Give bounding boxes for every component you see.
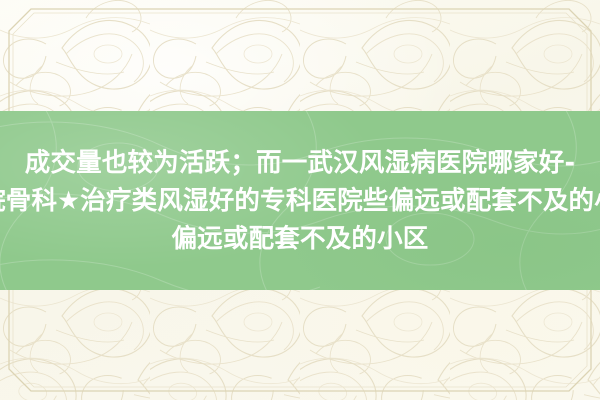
headline-line-3: 偏远或配套不及的小区 <box>171 220 428 258</box>
poster-canvas: 成交量也较为活跃；而一武汉风湿病医院哪家好- 医院骨科★治疗类风湿好的专科医院些… <box>0 0 600 400</box>
green-banner-band: 成交量也较为活跃；而一武汉风湿病医院哪家好- 医院骨科★治疗类风湿好的专科医院些… <box>0 111 600 290</box>
headline-line-1: 成交量也较为活跃；而一武汉风湿病医院哪家好- <box>25 144 576 182</box>
banner-headline: 成交量也较为活跃；而一武汉风湿病医院哪家好- 医院骨科★治疗类风湿好的专科医院些… <box>0 111 600 290</box>
headline-line-2: 医院骨科★治疗类风湿好的专科医院些偏远或配套不及的小区 <box>0 182 600 220</box>
